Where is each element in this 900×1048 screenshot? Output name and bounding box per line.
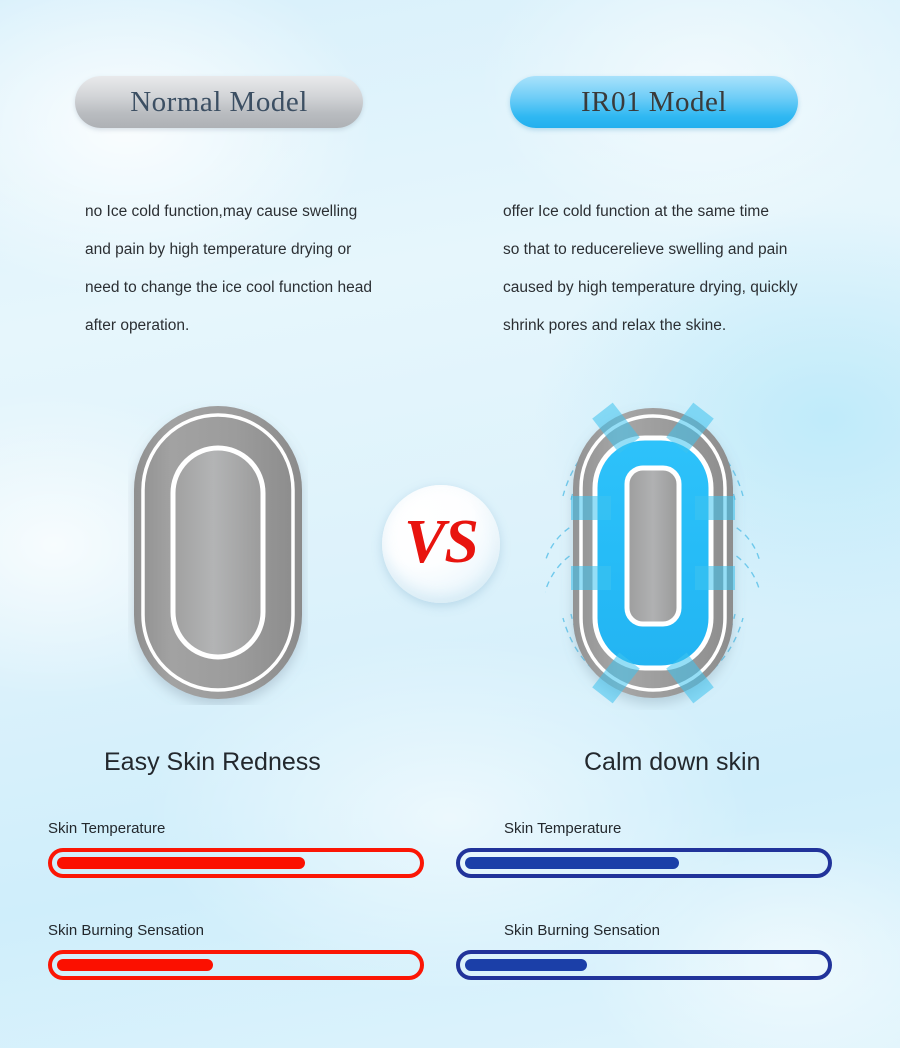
progress-bar-track: [48, 848, 424, 878]
ir01-device-illustration: [545, 400, 760, 710]
normal-model-header-pill: Normal Model: [75, 76, 363, 128]
ir01-model-header-pill: IR01 Model: [510, 76, 798, 128]
device-head-plain-icon: [128, 400, 308, 705]
ir01-model-caption: Calm down skin: [584, 748, 760, 777]
metric-label: Skin Temperature: [48, 820, 424, 837]
progress-bar-track: [456, 950, 832, 980]
normal-model-description: no Ice cold function,may cause swelling …: [85, 193, 445, 345]
metric-left-skin-temperature: Skin Temperature: [48, 820, 424, 878]
versus-badge-icon: VS: [382, 485, 500, 603]
normal-model-caption: Easy Skin Redness: [104, 748, 321, 777]
versus-label: VS: [404, 511, 478, 573]
progress-bar-fill: [57, 857, 305, 869]
metric-label: Skin Temperature: [504, 820, 832, 837]
progress-bar-fill: [465, 959, 587, 971]
ir01-model-description: offer Ice cold function at the same time…: [503, 193, 873, 345]
metric-right-skin-temperature: Skin Temperature: [456, 820, 832, 878]
progress-bar-track: [456, 848, 832, 878]
device-head-ice-cooling-icon: [545, 400, 760, 710]
normal-device-illustration: [128, 400, 308, 705]
metric-left-skin-burning-sensation: Skin Burning Sensation: [48, 922, 424, 980]
progress-bar-fill: [465, 857, 679, 869]
progress-bar-track: [48, 950, 424, 980]
metric-right-skin-burning-sensation: Skin Burning Sensation: [456, 922, 832, 980]
versus-badge: VS: [363, 484, 519, 604]
comparison-infographic: Normal Model IR01 Model no Ice cold func…: [0, 0, 900, 1048]
progress-bar-fill: [57, 959, 213, 971]
metric-label: Skin Burning Sensation: [504, 922, 832, 939]
metric-label: Skin Burning Sensation: [48, 922, 424, 939]
